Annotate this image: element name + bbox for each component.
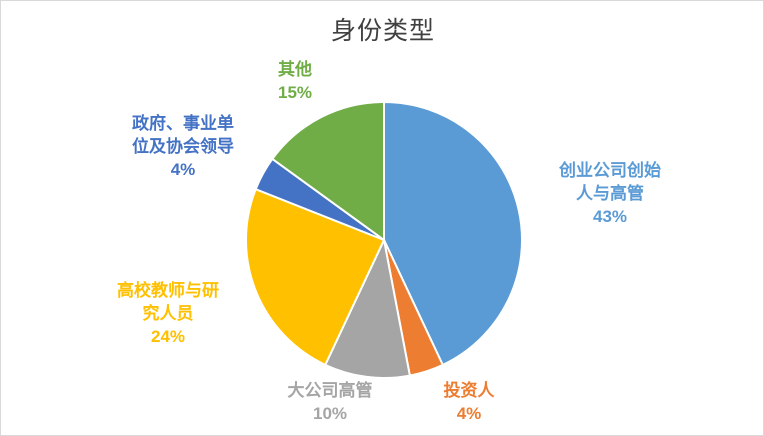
- data-label-academic-value: 24%: [93, 325, 243, 348]
- data-label-corporate-exec-line1: 大公司高管: [259, 379, 401, 402]
- pie-chart-container: 身份类型 创业公司创始 人与高管 43% 投资人 4% 大公司高管 10% 高校…: [0, 0, 764, 436]
- data-label-founder-line2: 人与高管: [525, 182, 695, 205]
- data-label-investor: 投资人 4%: [407, 379, 531, 425]
- data-label-government-line2: 位及协会领导: [95, 135, 271, 158]
- data-label-other: 其他 15%: [239, 58, 351, 104]
- data-label-other-value: 15%: [239, 81, 351, 104]
- data-label-academic-line1: 高校教师与研: [93, 279, 243, 302]
- data-label-founder-line1: 创业公司创始: [525, 159, 695, 182]
- pie-plot-area: [245, 101, 523, 379]
- pie-svg: [245, 101, 523, 379]
- data-label-government-line1: 政府、事业单: [95, 112, 271, 135]
- data-label-academic-line2: 究人员: [93, 302, 243, 325]
- data-label-corporate-exec-value: 10%: [259, 402, 401, 425]
- data-label-investor-value: 4%: [407, 402, 531, 425]
- data-label-government: 政府、事业单 位及协会领导 4%: [95, 112, 271, 181]
- data-label-government-value: 4%: [95, 158, 271, 181]
- data-label-investor-line1: 投资人: [407, 379, 531, 402]
- pie-slices-group: [246, 102, 522, 378]
- data-label-other-line1: 其他: [239, 58, 351, 81]
- data-label-corporate-exec: 大公司高管 10%: [259, 379, 401, 425]
- chart-title: 身份类型: [1, 15, 764, 47]
- data-label-academic: 高校教师与研 究人员 24%: [93, 279, 243, 348]
- data-label-founder: 创业公司创始 人与高管 43%: [525, 159, 695, 228]
- data-label-founder-value: 43%: [525, 205, 695, 228]
